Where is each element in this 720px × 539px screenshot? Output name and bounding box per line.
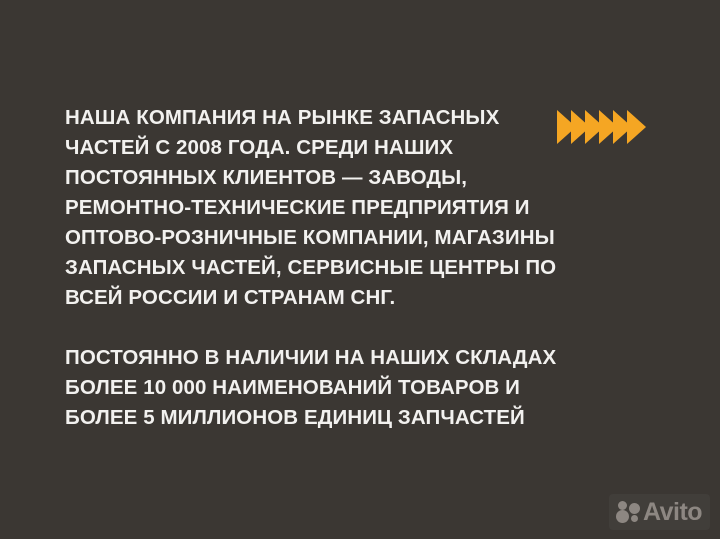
paragraph-stock-info: Постоянно в наличии на наших складах бол… xyxy=(65,343,585,433)
avito-dots-logo-icon xyxy=(616,501,641,523)
paragraph-company-profile: Наша компания на рынке запасных частей с… xyxy=(65,103,585,313)
avito-watermark: Avito xyxy=(609,494,710,530)
promo-banner: Наша компания на рынке запасных частей с… xyxy=(0,0,720,539)
chevron-right-icon xyxy=(627,110,646,144)
avito-wordmark: Avito xyxy=(643,500,702,525)
promo-copy-block: Наша компания на рынке запасных частей с… xyxy=(65,103,585,433)
